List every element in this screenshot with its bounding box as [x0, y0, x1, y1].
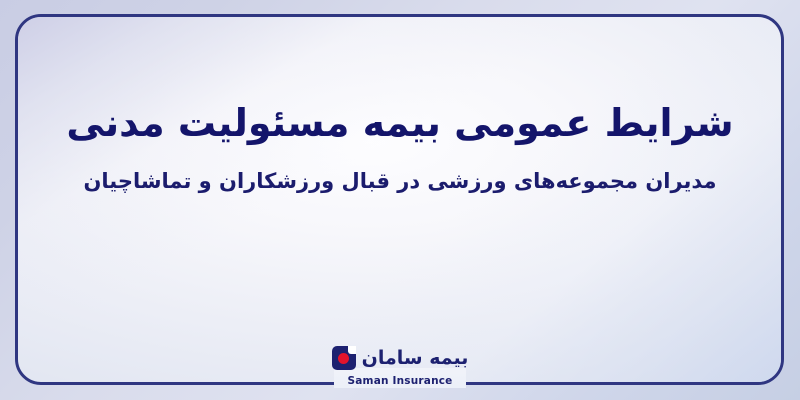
- document-cover-page: شرایط عمومی بیمه مسئولیت مدنی مدیران مجم…: [0, 0, 800, 400]
- cover-frame-border: [15, 14, 784, 385]
- logo-mark-red-dot: [338, 353, 349, 364]
- saman-insurance-logo: بیمه سامان Saman Insurance: [324, 344, 476, 388]
- logo-name-english: Saman Insurance: [324, 375, 476, 388]
- page-subtitle: مدیران مجموعه‌های ورزشی در قبال ورزشکارا…: [0, 167, 800, 196]
- cover-text-block: شرایط عمومی بیمه مسئولیت مدنی مدیران مجم…: [0, 98, 800, 197]
- rounded-square-with-red-dot-icon: [332, 346, 356, 370]
- logo-lockup-row: بیمه سامان: [324, 344, 476, 372]
- logo-wordmark-persian: بیمه سامان: [362, 349, 469, 368]
- logo-mark-notch: [348, 346, 356, 354]
- page-title: شرایط عمومی بیمه مسئولیت مدنی: [0, 98, 800, 149]
